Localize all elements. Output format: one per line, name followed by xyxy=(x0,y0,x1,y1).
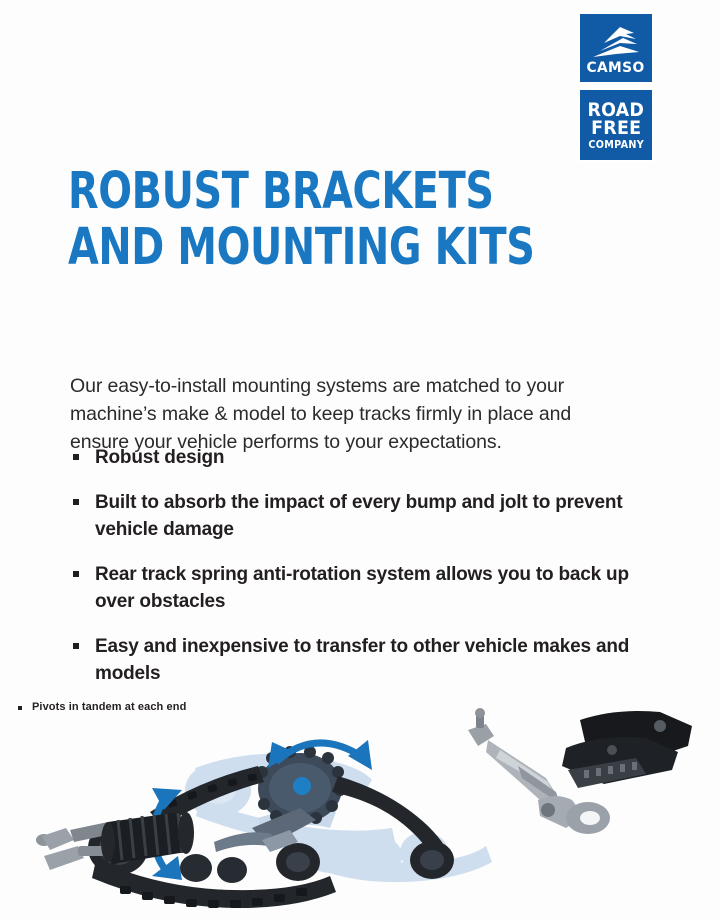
camso-wordmark: CAMSO xyxy=(587,61,645,76)
page-title-line-2: AND MOUNTING KITS xyxy=(68,220,435,276)
camso-logo-block: CAMSO ROAD FREE COMPANY xyxy=(578,12,654,162)
page-title: ROBUST BRACKETS AND MOUNTING KITS xyxy=(68,164,538,276)
badge-line-free: FREE xyxy=(591,119,641,137)
feature-list: Robust design Built to absorb the impact… xyxy=(70,444,640,705)
list-item: Robust design xyxy=(70,444,640,471)
list-item-label: Robust design xyxy=(95,447,224,468)
intro-paragraph: Our easy-to-install mounting systems are… xyxy=(70,372,630,456)
badge-line-company: COMPANY xyxy=(588,140,644,150)
road-free-company-badge: ROAD FREE COMPANY xyxy=(578,88,654,162)
illustration-group xyxy=(0,700,720,920)
list-item-label: Easy and inexpensive to transfer to othe… xyxy=(95,636,629,684)
mounting-bracket-photo xyxy=(562,711,692,788)
camso-logo-tile: CAMSO xyxy=(578,12,654,84)
square-bullet-icon xyxy=(73,571,79,577)
list-item: Easy and inexpensive to transfer to othe… xyxy=(70,633,640,687)
spring-damper-photo xyxy=(36,812,194,870)
list-item-label: Rear track spring anti-rotation system a… xyxy=(95,564,629,612)
list-item: Built to absorb the impact of every bump… xyxy=(70,489,640,543)
square-bullet-icon xyxy=(73,643,79,649)
page-title-line-1: ROBUST BRACKETS xyxy=(68,164,435,220)
list-item-label: Built to absorb the impact of every bump… xyxy=(95,492,622,540)
camso-mountain-icon xyxy=(590,25,642,59)
square-bullet-icon xyxy=(73,454,79,460)
list-item: Rear track spring anti-rotation system a… xyxy=(70,561,640,615)
square-bullet-icon xyxy=(73,499,79,505)
